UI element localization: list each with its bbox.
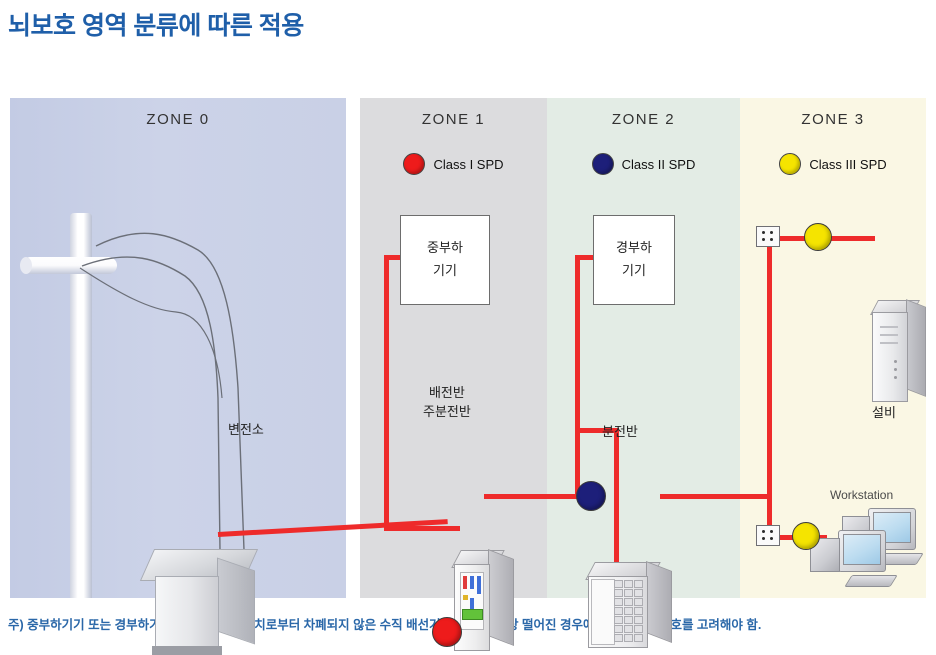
- facility-label: 설비: [872, 404, 896, 423]
- class-2-spd-legend-dot: [592, 153, 614, 175]
- server-slot-3: [880, 342, 898, 344]
- server-slot-2: [880, 334, 898, 336]
- switchboard-label-line2: 주분전반: [423, 404, 471, 419]
- cabinet-indicator-red: [463, 576, 467, 589]
- class-1-spd-legend-dot: [403, 153, 425, 175]
- server-led-3: [894, 376, 897, 379]
- class-2-spd-marker: [576, 481, 606, 511]
- cabinet-indicator-amber: [463, 595, 468, 600]
- wire-distribution-panel-to-zone3: [660, 494, 770, 499]
- zone-1-legend: Class I SPD: [360, 153, 547, 175]
- zone-3-legend: Class III SPD: [740, 153, 926, 175]
- heavy-load-label-line2: 기기: [433, 260, 457, 283]
- class-2-spd-legend-label: Class II SPD: [622, 157, 696, 172]
- server-slot-1: [880, 326, 898, 328]
- light-load-label-line1: 경부하: [616, 237, 652, 260]
- substation-label: 변전소: [228, 421, 264, 440]
- wire-zone3-trunk: [767, 238, 772, 538]
- wire-zone2-panel-drop: [614, 428, 619, 568]
- switchboard-cabinet-side: [488, 549, 514, 646]
- pole-crossarm-cap: [20, 257, 32, 274]
- zone-2-title: ZONE 2: [547, 111, 740, 128]
- zone-0-title: ZONE 0: [10, 111, 346, 128]
- switchboard-label-line1: 배전반: [429, 385, 465, 400]
- class-3-spd-marker-workstation: [792, 522, 820, 550]
- wire-zone1-riser: [384, 255, 389, 531]
- cabinet-indicator-blue: [470, 576, 474, 589]
- distribution-panel-door: [591, 579, 615, 645]
- distribution-panel-side: [646, 561, 672, 643]
- zone-3-title: ZONE 3: [740, 111, 926, 128]
- heavy-load-label-line1: 중부하: [427, 237, 463, 260]
- zone-0-panel: ZONE 0: [10, 98, 346, 598]
- pole-crossarm: [22, 257, 117, 274]
- wall-outlet-facility: [756, 226, 780, 247]
- switchboard-label: 배전반 주분전반: [423, 384, 471, 422]
- lightning-protection-zone-diagram: ZONE 0 ZONE 1 Class I SPD ZONE 2 Class I…: [10, 98, 926, 598]
- light-load-equipment-box: 경부하 기기: [593, 215, 675, 305]
- server-led-2: [894, 368, 897, 371]
- substation-transformer-base: [152, 646, 222, 655]
- zone-1-title: ZONE 1: [360, 111, 547, 128]
- wire-zone2-riser: [575, 255, 580, 497]
- heavy-load-equipment-box: 중부하 기기: [400, 215, 490, 305]
- page-title: 뇌보호 영역 분류에 따른 적용: [8, 6, 304, 42]
- class-1-spd-marker: [432, 617, 462, 647]
- wall-outlet-workstation: [756, 525, 780, 546]
- distribution-panel-label: 분전반: [602, 423, 638, 442]
- class-3-spd-legend-label: Class III SPD: [809, 157, 886, 172]
- class-1-spd-legend-label: Class I SPD: [433, 157, 503, 172]
- light-load-label-line2: 기기: [622, 260, 646, 283]
- distribution-panel-breaker-grid: [614, 580, 643, 642]
- cabinet-display: [462, 609, 483, 620]
- class-3-spd-marker-facility: [804, 223, 832, 251]
- class-3-spd-legend-dot: [779, 153, 801, 175]
- zone-separator: [346, 98, 360, 598]
- wire-zone1-bottom: [384, 526, 460, 531]
- substation-transformer-side: [217, 557, 255, 644]
- zone-2-legend: Class II SPD: [547, 153, 740, 175]
- workstation-label: Workstation: [830, 487, 893, 504]
- server-led-1: [894, 360, 897, 363]
- cabinet-indicator-blue-2: [477, 576, 481, 594]
- facility-server-side: [906, 299, 926, 397]
